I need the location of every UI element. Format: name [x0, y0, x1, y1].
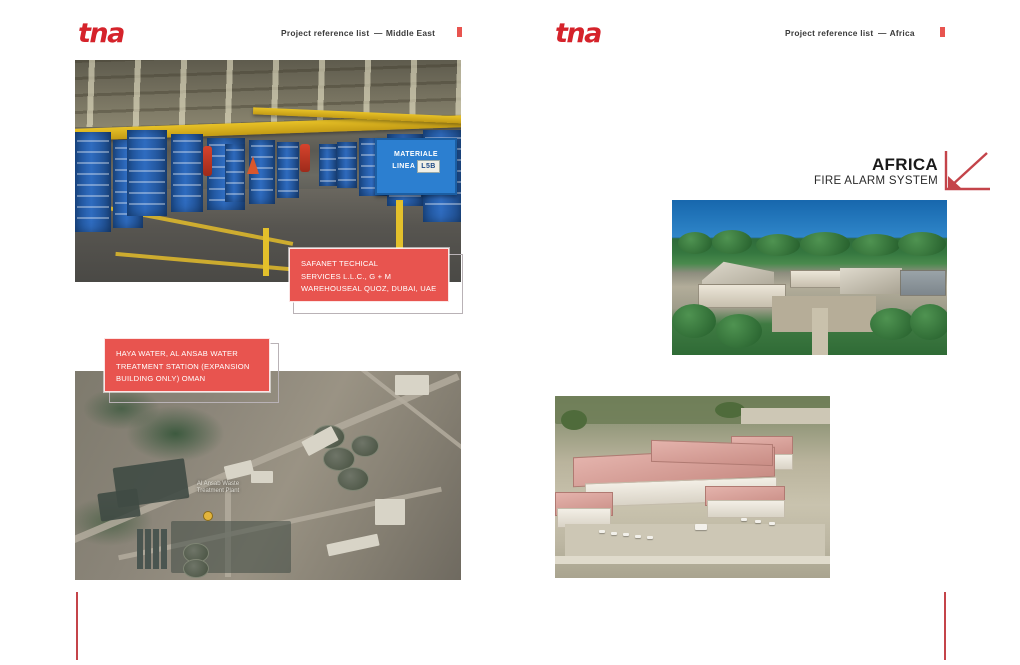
circular-tank [337, 467, 369, 491]
footer-rule-left [76, 592, 78, 660]
sign-line-2: LINEA [392, 163, 415, 170]
header-title-text: Project reference list [785, 28, 873, 38]
photo-mali-conference [672, 200, 947, 355]
section-title-block: AFRICA FIRE ALARM SYSTEM [710, 155, 938, 188]
tree-cluster [898, 232, 946, 256]
header-title-text: Project reference list [281, 28, 369, 38]
parked-car [599, 530, 605, 533]
map-label-line: Treatment Plant [173, 488, 263, 495]
tna-logo-right: tna [555, 20, 601, 47]
page-right: tna Project reference list — Africa AFRI… [510, 0, 1020, 665]
outer-road [741, 408, 830, 424]
parked-car [741, 518, 747, 521]
header-region: Africa [890, 28, 915, 38]
basin [161, 529, 167, 569]
page-subtitle: FIRE ALARM SYSTEM [710, 174, 938, 188]
walkway [812, 308, 828, 355]
shelving-rack [171, 134, 203, 212]
basin [153, 529, 159, 569]
tna-logo-left: tna [78, 20, 124, 47]
parked-car [755, 520, 761, 523]
shelving-rack [319, 144, 337, 186]
circular-tank [183, 559, 209, 578]
parked-car [611, 532, 617, 535]
shelving-rack [127, 130, 167, 216]
materiale-linea-sign: MATERIALE LINEAL5B [375, 138, 457, 195]
caption-box: SAFANET TECHICAL SERVICES L.L.C., G + M … [289, 248, 449, 302]
parked-car [695, 524, 707, 530]
header-title-right: Project reference list — Africa [785, 28, 915, 38]
map-label: Al Ansab Waste Treatment Plant [173, 481, 263, 495]
tree-cluster [672, 304, 716, 338]
corner-arrow-icon [943, 148, 993, 199]
building [224, 460, 255, 480]
shelving-rack [75, 132, 111, 232]
tree-cluster [800, 232, 850, 256]
paved-area [97, 488, 141, 521]
parked-car [769, 522, 775, 525]
caption-line: SAFANET TECHICAL [301, 258, 438, 271]
building [326, 534, 379, 557]
caption-line: BUILDING ONLY) OMAN [116, 373, 259, 386]
parked-car [647, 536, 653, 539]
sign-line-1: MATERIALE [394, 151, 438, 158]
river [672, 200, 947, 237]
tree-cluster [678, 232, 712, 254]
caption-line: TREATMENT STATION (EXPANSION [116, 361, 259, 374]
basin [137, 529, 143, 569]
tree-cluster [716, 314, 762, 348]
caption-line: HAYA WATER, AL ANSAB WATER [116, 348, 259, 361]
basin [145, 529, 151, 569]
perimeter-wall [555, 556, 830, 564]
yellow-post [263, 228, 269, 276]
header-red-mark-icon [940, 27, 945, 37]
header-separator: — [876, 28, 887, 38]
side-building [900, 270, 946, 296]
hospital-rear-roof [651, 440, 773, 466]
safety-cone [247, 156, 259, 174]
header-red-mark-icon [457, 27, 462, 37]
annex-roof [840, 268, 902, 294]
footer-rule-right [944, 592, 946, 660]
tree-cluster [561, 410, 587, 430]
caption-haya-water: HAYA WATER, AL ANSAB WATER TREATMENT STA… [104, 338, 284, 404]
caption-safanet: SAFANET TECHICAL SERVICES L.L.C., G + M … [289, 248, 465, 314]
worker-figure [300, 144, 310, 172]
building [375, 499, 405, 525]
page-left: tna Project reference list — Middle East [0, 0, 510, 665]
tree-cluster [870, 308, 914, 340]
parked-car [635, 535, 641, 538]
mali-aerial-image [672, 200, 947, 355]
parked-car [623, 533, 629, 536]
circular-tank [351, 435, 379, 457]
map-marker-icon [203, 511, 213, 521]
shelving-rack [225, 144, 245, 202]
sign-badge: L5B [417, 160, 439, 173]
building [395, 375, 429, 395]
header-title-left: Project reference list — Middle East [281, 28, 435, 38]
caption-line: SERVICES L.L.C., G + M [301, 271, 438, 284]
shelving-rack [337, 142, 357, 188]
tree-cluster [712, 230, 752, 254]
hospital-east-wall [707, 500, 785, 518]
tree-cluster [910, 304, 947, 340]
header-region: Middle East [386, 28, 435, 38]
caption-box: HAYA WATER, AL ANSAB WATER TREATMENT STA… [104, 338, 270, 392]
rwanda-aerial-image [555, 396, 830, 578]
caption-line: WAREHOUSEAL QUOZ, DUBAI, UAE [301, 283, 438, 296]
page-title: AFRICA [710, 155, 938, 174]
tree-cluster [756, 234, 800, 256]
shelving-rack [277, 142, 299, 198]
tree-cluster [852, 234, 900, 256]
photo-rwanda-hospital [555, 396, 830, 578]
map-label-line: Al Ansab Waste [173, 481, 263, 488]
worker-figure [203, 146, 212, 176]
header-separator: — [372, 28, 383, 38]
